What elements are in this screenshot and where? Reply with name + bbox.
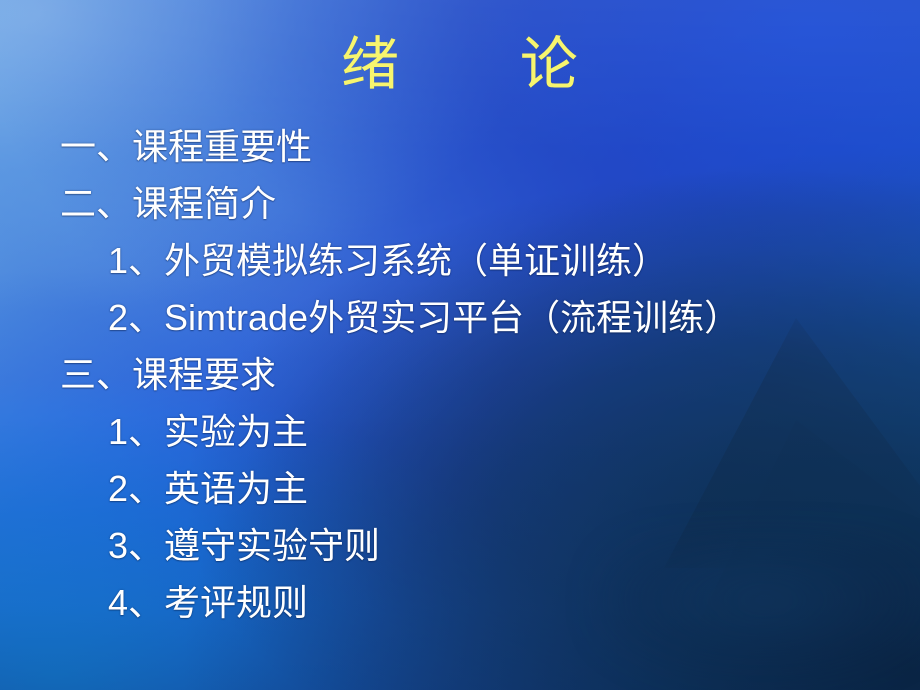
outline-item-3-sub-4: 4、考评规则 <box>0 574 920 631</box>
outline-item-3-sub-2: 2、英语为主 <box>0 460 920 517</box>
outline-item-2-sub-2: 2、Simtrade外贸实习平台（流程训练） <box>0 289 920 346</box>
outline-item-3-sub-1: 1、实验为主 <box>0 403 920 460</box>
outline-item-1: 一、课程重要性 <box>0 118 920 175</box>
presentation-slide: 绪 论 一、课程重要性 二、课程简介 1、外贸模拟练习系统（单证训练） 2、Si… <box>0 0 920 690</box>
slide-title: 绪 论 <box>0 34 920 96</box>
outline-item-2: 二、课程简介 <box>0 175 920 232</box>
outline-item-3-sub-3: 3、遵守实验守则 <box>0 517 920 574</box>
slide-body-outline: 一、课程重要性 二、课程简介 1、外贸模拟练习系统（单证训练） 2、Simtra… <box>0 118 920 631</box>
outline-item-2-sub-1: 1、外贸模拟练习系统（单证训练） <box>0 232 920 289</box>
outline-item-3: 三、课程要求 <box>0 346 920 403</box>
